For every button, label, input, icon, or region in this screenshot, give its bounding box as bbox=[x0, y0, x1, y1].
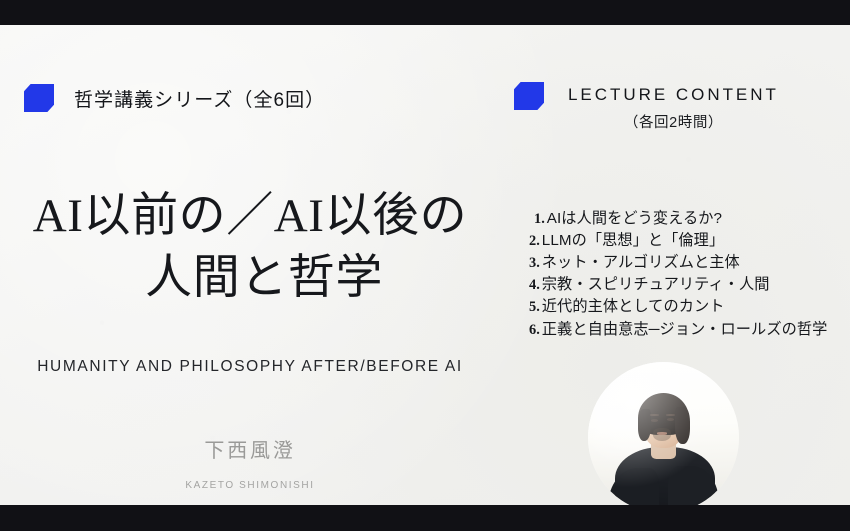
author-name-ja: 下西風澄 bbox=[0, 434, 500, 463]
title-english-subtitle: HUMANITY AND PHILOSOPHY AFTER/BEFORE AI bbox=[0, 358, 500, 376]
title-line-2: 人間と哲学 bbox=[0, 247, 500, 309]
slide-canvas: 哲学講義シリーズ（全6回） LECTURE CONTENT （各回2時間） AI… bbox=[0, 25, 850, 505]
hexagon-marker-icon bbox=[514, 82, 544, 110]
lecture-list: 1.AIは人間をどう変えるか?2.LLMの「思想」と「倫理」3.ネット・アルゴリ… bbox=[529, 208, 827, 341]
list-item: 3.ネット・アルゴリズムと主体 bbox=[529, 252, 827, 274]
list-item-label: 正義と自由意志─ジョン・ロールズの哲学 bbox=[542, 319, 828, 341]
list-item-number: 5. bbox=[529, 297, 540, 318]
list-item-number: 1. bbox=[534, 209, 545, 230]
letterbox-bar-bottom bbox=[0, 505, 850, 531]
avatar bbox=[588, 362, 739, 505]
list-item-label: 宗教・スピリチュアリティ・人間 bbox=[542, 274, 770, 296]
list-item: 5.近代的主体としてのカント bbox=[529, 296, 827, 318]
letterbox-bar-top bbox=[0, 0, 850, 25]
lecture-content-header: LECTURE CONTENT （各回2時間） bbox=[514, 82, 779, 132]
slide-root: 哲学講義シリーズ（全6回） LECTURE CONTENT （各回2時間） AI… bbox=[0, 0, 850, 531]
list-item: 2.LLMの「思想」と「倫理」 bbox=[529, 230, 827, 252]
portrait-photo bbox=[588, 362, 739, 505]
list-item-label: LLMの「思想」と「倫理」 bbox=[542, 230, 724, 252]
title-line-1: AI以前の／AI以後の bbox=[0, 185, 500, 247]
list-item: 4.宗教・スピリチュアリティ・人間 bbox=[529, 274, 827, 296]
list-item-label: ネット・アルゴリズムと主体 bbox=[542, 252, 740, 274]
list-item-number: 2. bbox=[529, 231, 540, 252]
lecture-content-title: LECTURE CONTENT bbox=[568, 85, 779, 105]
list-item-label: 近代的主体としてのカント bbox=[542, 296, 725, 318]
lecture-content-subtitle: （各回2時間） bbox=[624, 111, 723, 132]
list-item-number: 4. bbox=[529, 275, 540, 296]
list-item-label: AIは人間をどう変えるか? bbox=[547, 208, 722, 230]
hexagon-marker-icon bbox=[24, 84, 54, 112]
series-header: 哲学講義シリーズ（全6回） bbox=[24, 84, 325, 112]
list-item: 6.正義と自由意志─ジョン・ロールズの哲学 bbox=[529, 319, 827, 341]
list-item-number: 3. bbox=[529, 253, 540, 274]
series-label: 哲学講義シリーズ（全6回） bbox=[74, 85, 325, 112]
list-item-number: 6. bbox=[529, 320, 540, 341]
page-title: AI以前の／AI以後の 人間と哲学 bbox=[0, 185, 500, 309]
list-item: 1.AIは人間をどう変えるか? bbox=[529, 208, 827, 230]
author-name-en: KAZETO SHIMONISHI bbox=[0, 480, 500, 491]
lecture-content-header-text: LECTURE CONTENT （各回2時間） bbox=[568, 82, 779, 132]
